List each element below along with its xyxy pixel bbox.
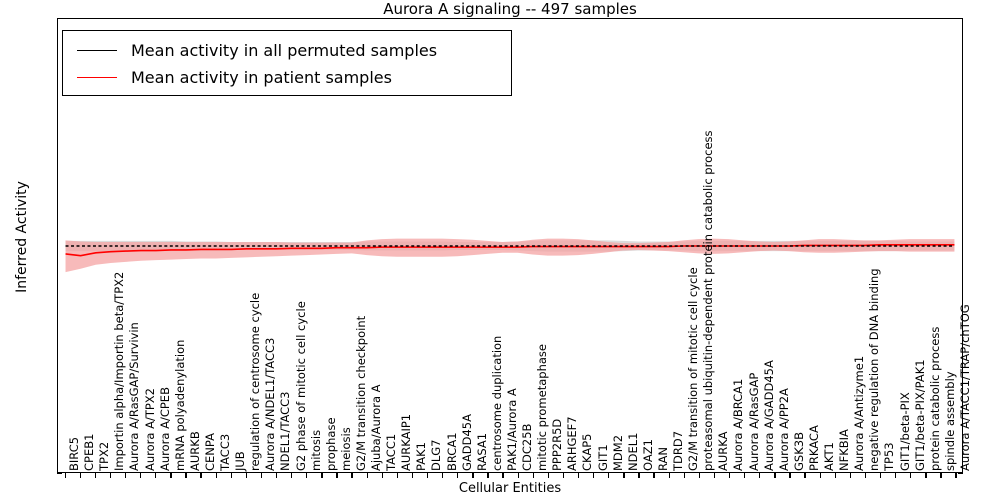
x-axis-category-label: meiosis [341,427,352,471]
x-axis-tick-mark [669,473,670,478]
x-axis-category-label: TACC1 [386,434,397,471]
x-axis-tick-mark [865,473,866,478]
x-axis-category-label: AURKA [718,432,729,471]
x-axis-tick-mark [261,473,262,478]
x-axis-category-label: Aurora A/GADD45A [764,360,775,471]
x-axis-tick-mark [95,473,96,478]
y-axis-title: Inferred Activity [13,127,31,347]
legend-label-permuted: Mean activity in all permuted samples [131,41,437,60]
x-axis-category-label: RASA1 [477,433,488,471]
x-axis-category-label: CENPA [205,433,216,471]
x-axis-tick-mark [548,473,549,478]
x-axis-tick-mark [231,473,232,478]
x-axis-category-label: BIRC5 [69,437,80,471]
page-title: Aurora A signaling -- 497 samples [57,0,963,18]
x-axis-tick-mark [714,473,715,478]
x-axis-tick-mark [382,473,383,478]
x-axis-category-label: BRCA1 [447,432,458,471]
x-axis-category-label: proteasomal ubiquitin-dependent protein … [703,130,714,471]
x-axis-category-label: Aurora A/PP2A [779,388,790,471]
x-axis-tick-mark [608,473,609,478]
x-axis-tick-mark [321,473,322,478]
x-axis-tick-mark [533,473,534,478]
x-axis-tick-mark [940,473,941,478]
x-axis-category-label: Aurora A/Antizyme1 [854,356,865,471]
x-axis-category-label: NFKBIA [839,429,850,471]
x-axis-category-label: negative regulation of DNA binding [869,268,880,471]
x-axis-category-label: PPP2R5D [552,419,563,471]
x-axis-category-label: GIT1 [598,444,609,471]
x-axis-tick-mark [185,473,186,478]
x-axis-tick-mark [895,473,896,478]
x-axis-tick-mark [80,473,81,478]
x-axis-category-label: Aurora A/TPX2 [145,388,156,471]
x-axis-category-label: TDRD7 [673,431,684,471]
x-axis-tick-mark [699,473,700,478]
x-axis-category-label: GIT1/beta-PIX/PAK1 [915,359,926,471]
x-axis-category-label: CPEB1 [84,434,95,471]
x-axis-category-label: GSK3B [794,432,805,471]
x-axis-tick-mark [789,473,790,478]
x-axis-tick-mark [412,473,413,478]
x-axis-tick-mark [518,473,519,478]
x-axis-category-label: NDEL1/TACC3 [280,392,291,472]
x-axis-category-label: PRKACA [809,425,820,471]
legend-item-permuted: Mean activity in all permuted samples [71,37,503,64]
x-axis-category-label: Aurora A/CPEB [160,387,171,471]
legend-item-patient: Mean activity in patient samples [71,64,503,91]
x-axis-tick-mark [880,473,881,478]
x-axis-tick-mark [578,473,579,478]
x-axis-category-label: AURKAIP1 [401,414,412,471]
chart-root: Aurora A signaling -- 497 samples Inferr… [0,0,1000,500]
x-axis-category-label: prophase [326,417,337,471]
x-axis-tick-mark [955,473,956,478]
x-axis-category-label: AURKB [190,431,201,471]
x-axis-category-label: Aurora A/BRCA1 [733,379,744,471]
x-axis-category-label: MDM2 [613,435,624,471]
x-axis-category-label: CDC25B [522,424,533,471]
x-axis-tick-mark [759,473,760,478]
x-axis-tick-mark [351,473,352,478]
x-axis-category-label: GIT1/beta-PIX [900,392,911,471]
x-axis-tick-mark [638,473,639,478]
x-axis-tick-mark [593,473,594,478]
x-axis-tick-mark [623,473,624,478]
x-axis-category-label: mitosis [311,430,322,471]
band-patient [66,239,955,272]
x-axis-category-label: regulation of centrosome cycle [250,293,261,471]
x-axis-category-label: CKAP5 [582,434,593,472]
legend-label-patient: Mean activity in patient samples [131,68,392,87]
x-axis-tick-mark [155,473,156,478]
x-axis-category-label: Importin alpha/Importin beta/TPX2 [114,272,125,471]
x-axis-tick-mark [653,473,654,478]
x-axis-tick-mark [910,473,911,478]
x-axis-category-label: ARHGEF7 [567,416,578,471]
x-axis-category-label: TPX2 [99,442,110,471]
x-axis-tick-mark [397,473,398,478]
x-axis-category-label: NDEL1 [628,433,639,471]
x-axis-category-label: TACC3 [220,434,231,471]
x-axis-tick-mark [563,473,564,478]
x-axis-category-label: mitotic prometaphase [537,344,548,471]
x-axis-tick-mark [744,473,745,478]
x-axis-tick-mark [200,473,201,478]
x-axis-category-label: Ajuba/Aurora A [371,384,382,471]
x-axis-tick-mark [820,473,821,478]
x-axis-category-label: PAK1 [416,442,427,471]
x-axis-category-label: RAN [658,447,669,471]
x-axis-tick-mark [276,473,277,478]
x-axis-tick-mark [774,473,775,478]
x-axis-tick-mark [457,473,458,478]
legend-swatch-patient-line [77,77,117,78]
x-axis-tick-mark [427,473,428,478]
y-axis-tick-mark [57,473,62,474]
legend-swatch-permuted-line [77,50,117,51]
x-axis-tick-mark [367,473,368,478]
x-axis-category-label: GADD45A [462,414,473,471]
y-axis-tick-mark [958,473,963,474]
x-axis-category-label: JUB [235,451,246,471]
x-axis-category-label: TP53 [884,442,895,471]
x-axis-category-label: spindle assembly [945,371,956,471]
x-axis-tick-mark [170,473,171,478]
x-axis-tick-mark [336,473,337,478]
x-axis-tick-mark [835,473,836,478]
x-axis-tick-mark [442,473,443,478]
x-axis-category-label: OAZ1 [643,439,654,471]
x-axis-tick-mark [306,473,307,478]
x-axis-tick-mark [110,473,111,478]
x-axis-category-label: PAK1/Aurora A [507,388,518,471]
x-axis-category-label: DLG7 [431,440,442,472]
x-axis-tick-mark [216,473,217,478]
x-axis-tick-mark [804,473,805,478]
x-axis-tick-mark [65,473,66,478]
x-axis-category-label: Aurora A/NDEL1/TACC3 [265,338,276,471]
x-axis-tick-mark [925,473,926,478]
x-axis-tick-mark [472,473,473,478]
x-axis-title: Cellular Entities [57,480,963,498]
x-axis-category-label: Aurora A/RasGAP/Survivin [129,322,140,471]
x-axis-category-label: Aurora A/RasGAP [749,373,760,471]
x-axis-tick-mark [502,473,503,478]
x-axis-category-label: Aurora A/TACC1/TRAP/chTOG [960,304,971,471]
x-axis-tick-mark [684,473,685,478]
x-axis-category-label: AKT1 [824,442,835,471]
x-axis-tick-mark [140,473,141,478]
x-axis-tick-mark [729,473,730,478]
x-axis-category-label: protein catabolic process [930,327,941,471]
x-axis-tick-mark [291,473,292,478]
x-axis-tick-mark [487,473,488,478]
x-axis-tick-mark [246,473,247,478]
x-axis-category-label: G2 phase of mitotic cell cycle [296,301,307,471]
x-axis-category-label: G2/M transition of mitotic cell cycle [688,267,699,471]
legend: Mean activity in all permuted samples Me… [62,30,512,96]
x-axis-category-label: G2/M transition checkpoint [356,316,367,471]
x-axis-tick-mark [125,473,126,478]
x-axis-tick-mark [850,473,851,478]
x-axis-category-label: centrosome duplication [492,336,503,471]
x-axis-category-label: mRNA polyadenylation [175,340,186,471]
